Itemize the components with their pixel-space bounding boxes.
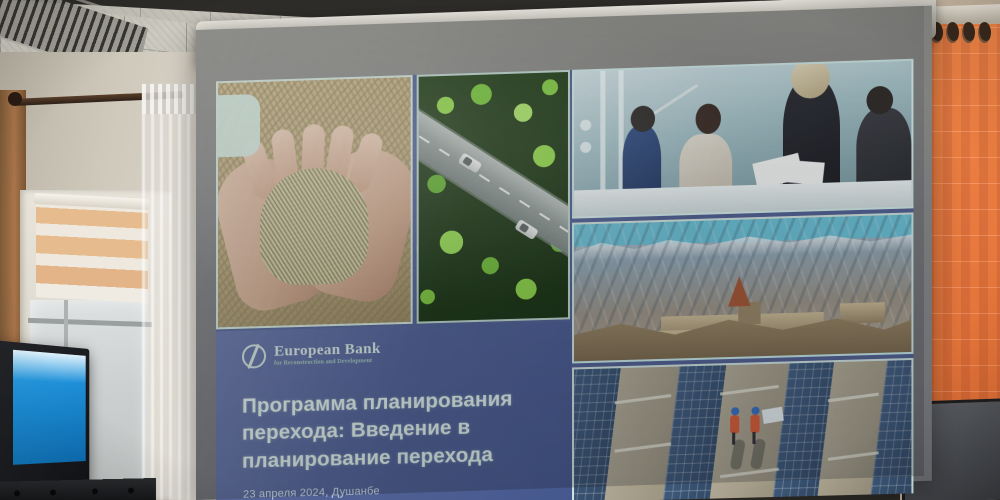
monitor-screw [128, 487, 134, 493]
presentation-slide: European Bank for Reconstruction and Dev… [216, 59, 913, 500]
grain-pile [260, 167, 368, 286]
road-marking [417, 122, 570, 244]
person-head [696, 103, 721, 134]
wall-dot [580, 119, 591, 130]
brand-accent-tab [218, 94, 260, 157]
monastery-spire [728, 276, 750, 307]
conference-room-scene: European Bank for Reconstruction and Dev… [0, 0, 1000, 500]
photo-office-meeting [572, 59, 913, 219]
photo-grain [216, 75, 413, 329]
photo-mountain-monastery [572, 212, 913, 363]
projection-screen: European Bank for Reconstruction and Dev… [196, 6, 932, 500]
worker-vest [750, 415, 759, 433]
fortress-bastion [840, 302, 885, 323]
slide-heading: Программа планирования перехода: Введени… [242, 384, 556, 475]
grommet-ring [978, 22, 991, 43]
slide-date-location: 23 апреля 2024, Душанбе [243, 485, 380, 500]
grommet-ring [946, 22, 959, 43]
photo-forest-road [417, 70, 570, 324]
ebrd-logo: European Bank for Reconstruction and Dev… [242, 341, 381, 369]
photo-solar-farm [572, 358, 913, 500]
ebrd-logo-text: European Bank for Reconstruction and Dev… [274, 341, 381, 367]
worker-leg [752, 432, 755, 444]
worker-leg [732, 432, 735, 444]
wall-monitor[interactable] [0, 340, 89, 500]
window-blind [36, 197, 148, 303]
slide-right-photo-column [572, 59, 913, 500]
monitor-stand [0, 478, 156, 500]
grommet-ring [962, 22, 975, 43]
ebrd-logo-icon [242, 344, 266, 369]
document-sheet [782, 160, 825, 185]
monitor-screen [13, 350, 86, 465]
road [417, 105, 570, 260]
monitor-screw [50, 489, 56, 495]
slide-title-panel: European Bank for Reconstruction and Dev… [216, 321, 572, 500]
desk-lamp-arm [650, 84, 698, 117]
monitor-screw [14, 490, 20, 496]
curtain-rod-finial [8, 92, 22, 106]
wall-dot [580, 142, 591, 153]
logo-title: European Bank [274, 341, 381, 360]
worker-vest [730, 415, 739, 433]
monitor-screw [92, 488, 98, 494]
